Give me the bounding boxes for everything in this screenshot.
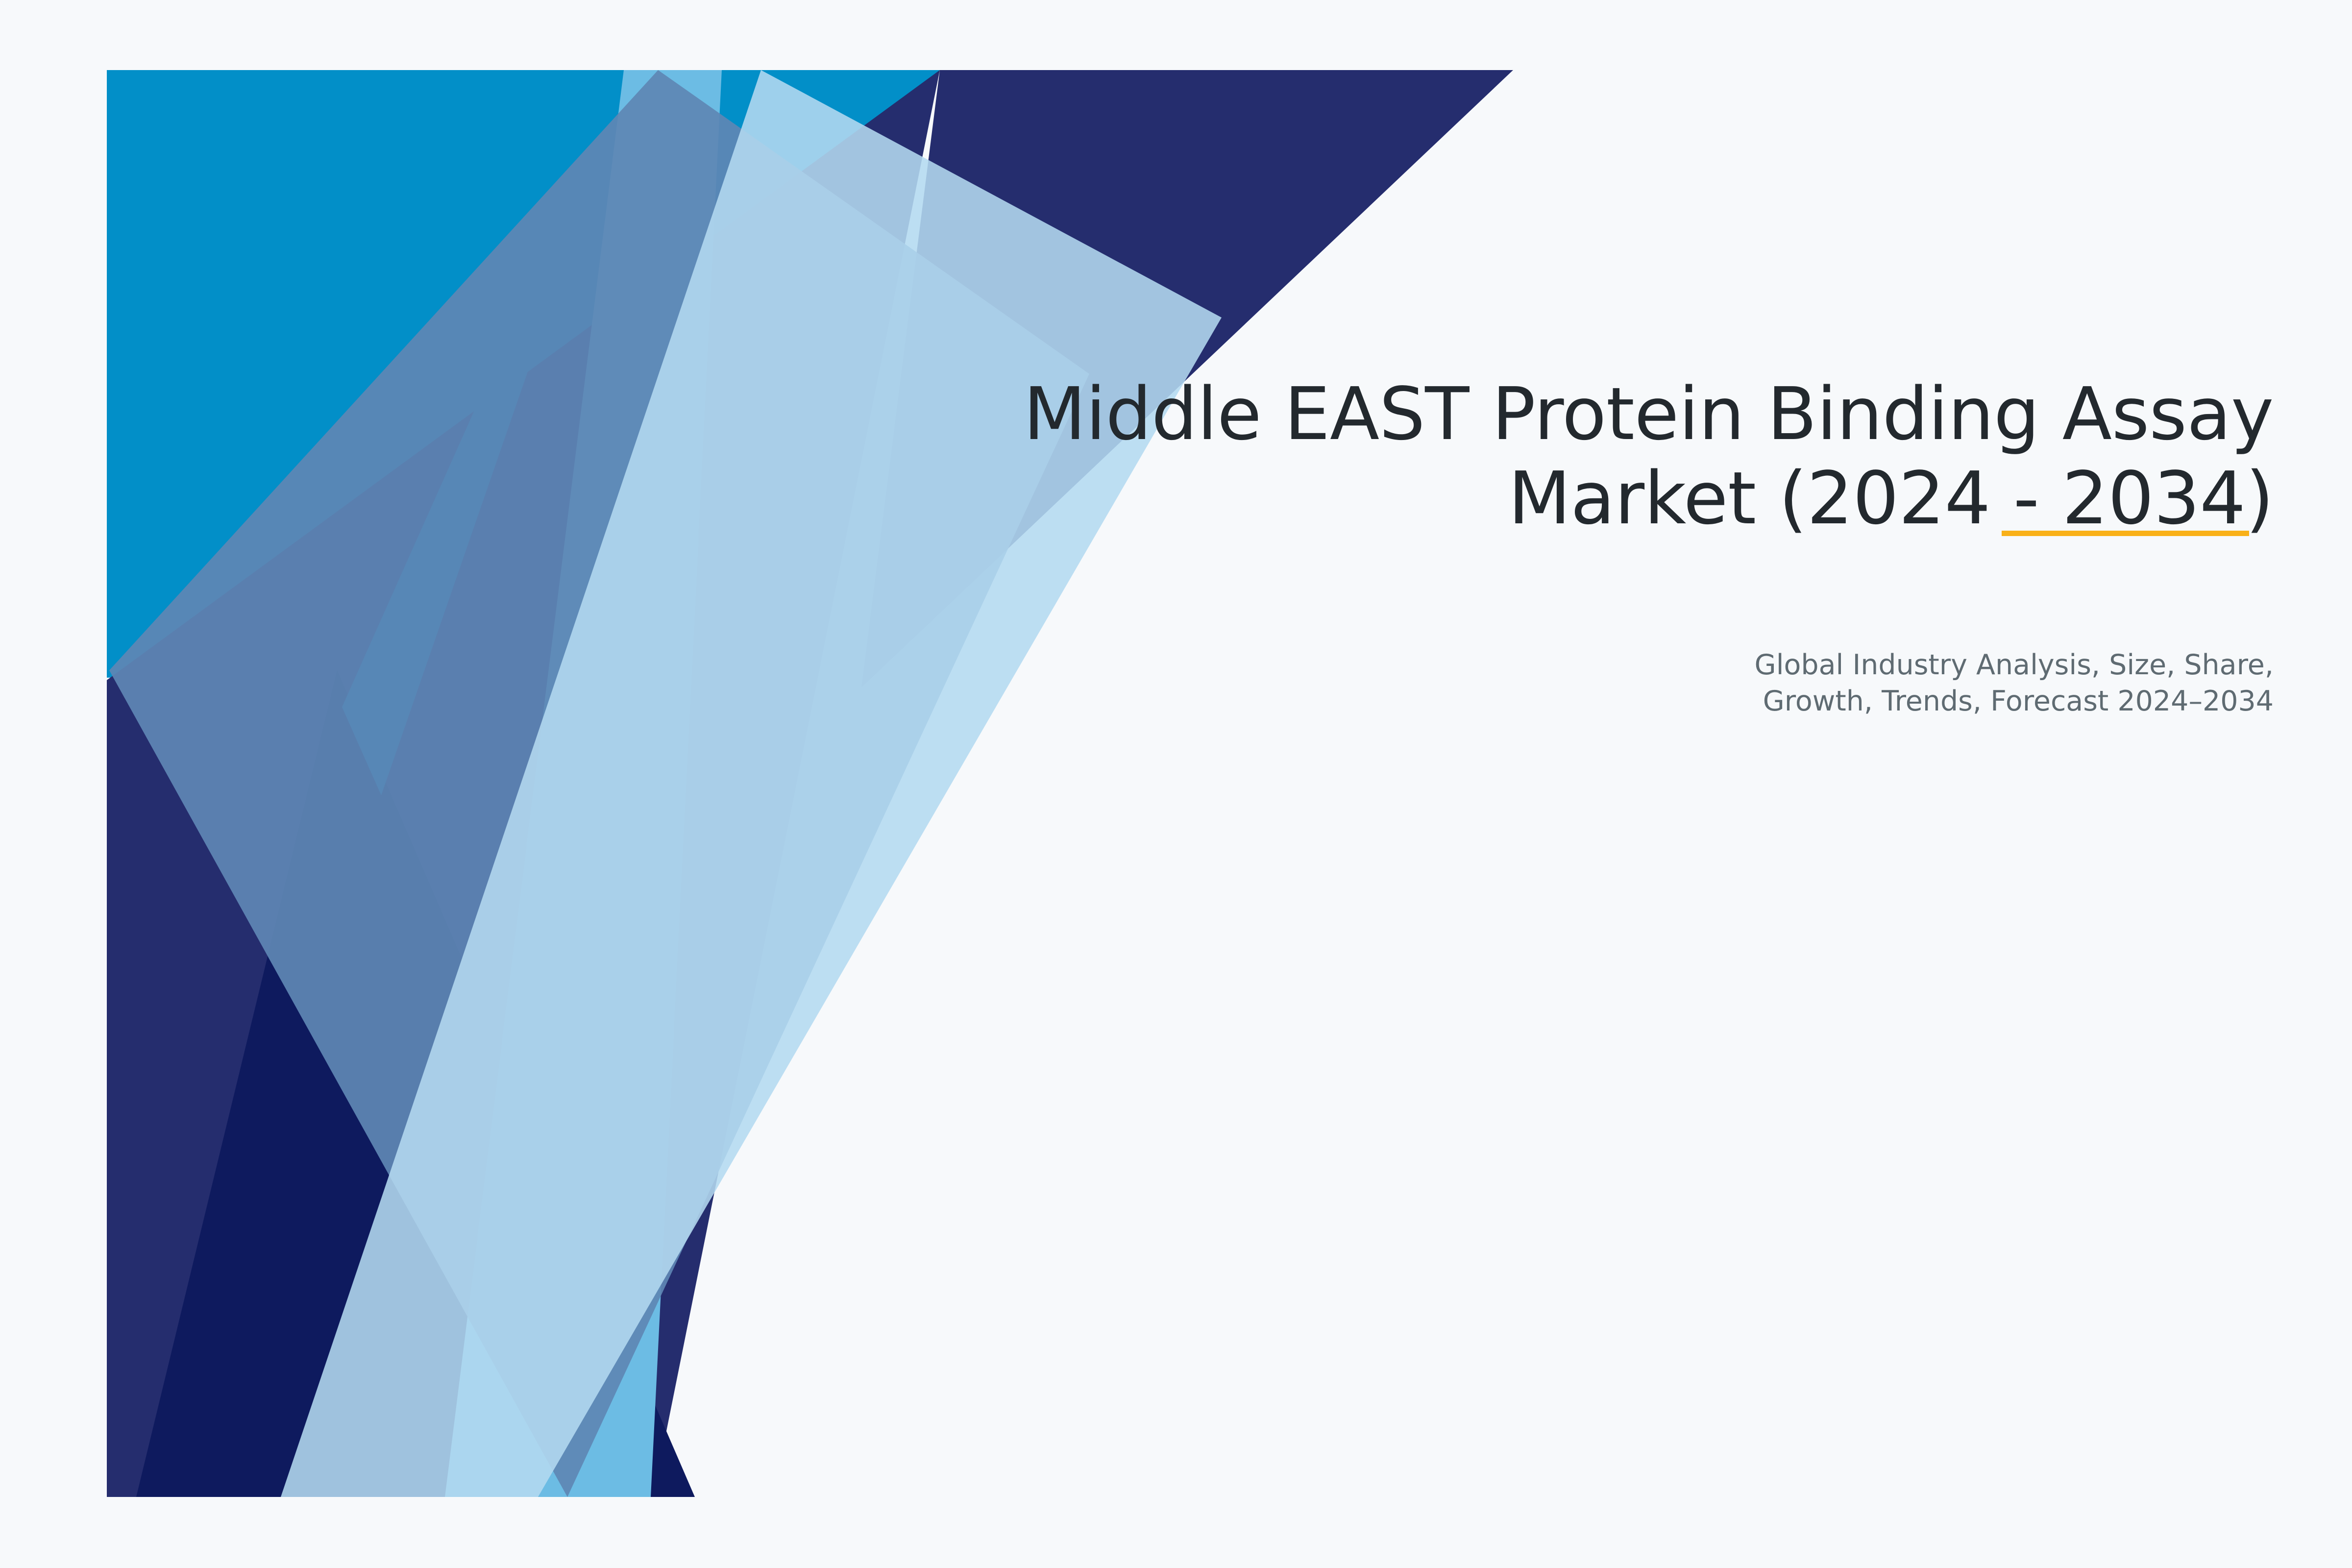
artwork-canvas [107,70,1514,1497]
accent-underline [2002,531,2249,536]
page-subtitle: Global Industry Analysis, Size, Share, G… [1421,647,2274,719]
page-title: Middle EAST Protein Binding Assay Market… [857,372,2274,540]
cover-page: Middle EAST Protein Binding Assay Market… [0,0,2352,1568]
cover-text-block: Middle EAST Protein Binding Assay Market… [857,372,2274,540]
cover-artwork [107,70,1514,1497]
